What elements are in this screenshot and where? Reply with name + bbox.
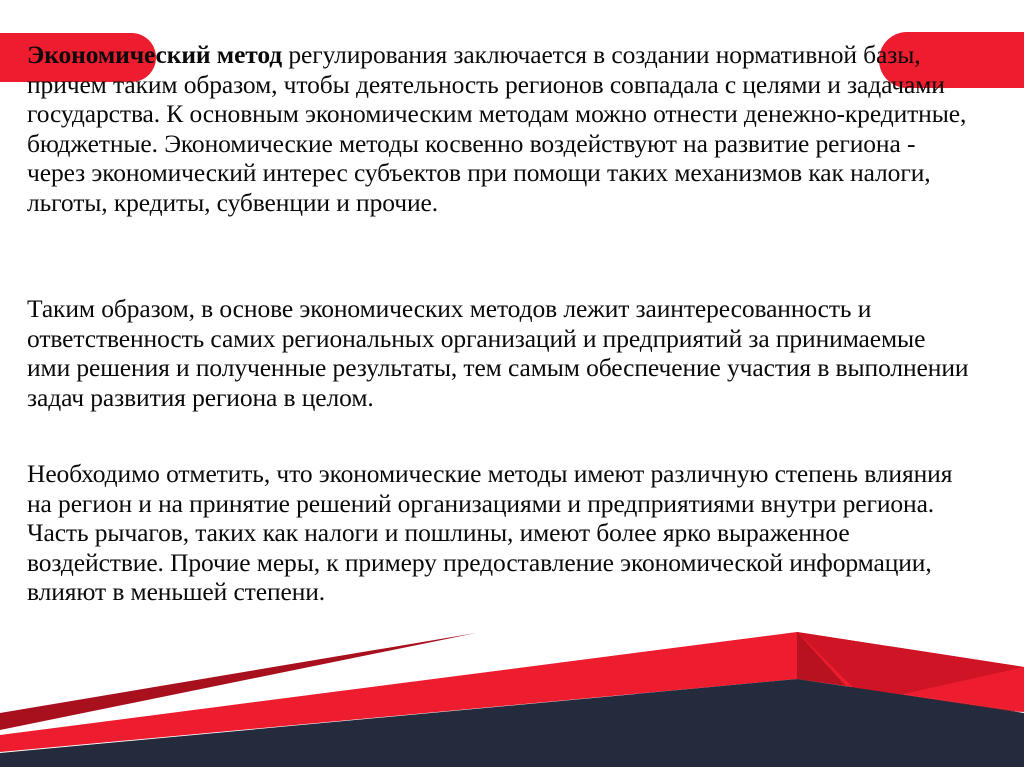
dark-red-sliver-stripe <box>0 633 476 730</box>
bottom-decor-graphic <box>0 607 1024 767</box>
paragraph-2-body: Таким образом, в основе экономических ме… <box>27 294 968 412</box>
slide-canvas: Экономический метод регулирования заключ… <box>0 0 1024 767</box>
red-fold-shadow-left <box>797 632 1024 712</box>
paragraph-3: Необходимо отметить, что экономические м… <box>27 459 973 607</box>
paragraph-3-body: Необходимо отметить, что экономические м… <box>27 459 952 606</box>
paragraph-1: Экономический метод регулирования заключ… <box>27 40 973 218</box>
red-main-band <box>0 632 1024 752</box>
red-fold-shadow-right <box>797 632 1024 702</box>
paragraph-1-lead: Экономический метод <box>27 40 282 69</box>
navy-base-shape <box>0 679 1024 767</box>
bottom-decor-svg <box>0 607 1024 767</box>
paragraph-2: Таким образом, в основе экономических ме… <box>27 294 973 412</box>
